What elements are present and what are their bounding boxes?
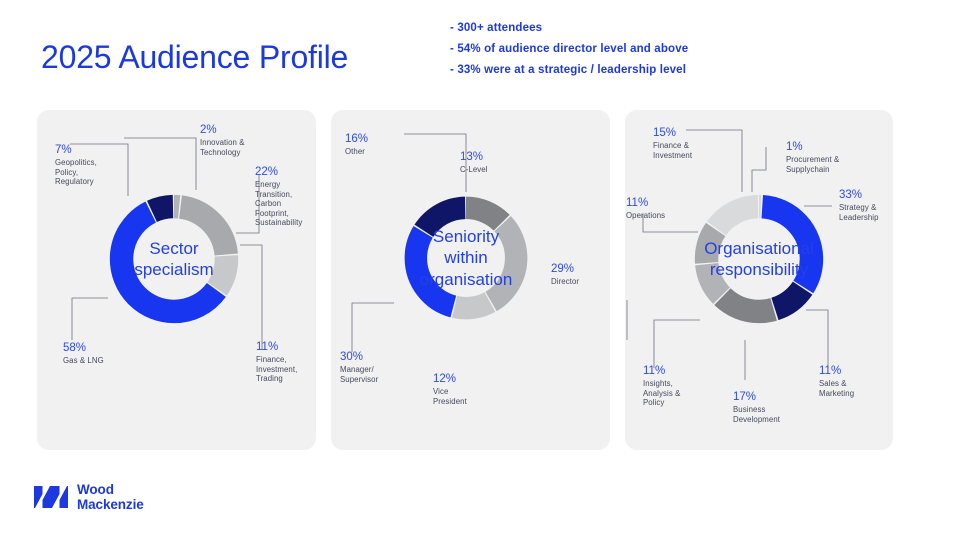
summary-bullet-2: - 54% of audience director level and abo… — [450, 39, 688, 60]
donut-3-svg — [690, 190, 828, 328]
label-innovation-name: Innovation &Technology — [200, 138, 245, 157]
label-sales-marketing: 11% Sales &Marketing — [819, 364, 854, 398]
label-strategy-name: Strategy &Leadership — [839, 203, 879, 222]
label-finance-investment-trading: 11% Finance,Investment,Trading — [256, 340, 297, 384]
label-c-level-name: C-Level — [460, 165, 488, 175]
label-vice-president-pct: 12% — [433, 372, 467, 386]
summary-bullets: - 300+ attendees - 54% of audience direc… — [450, 18, 688, 81]
brand-name-line-1: Wood — [77, 482, 144, 497]
label-gas-lng-pct: 58% — [63, 341, 104, 355]
label-procurement-name: Procurement &Supplychain — [786, 155, 839, 174]
label-procurement-supplychain: 1% Procurement &Supplychain — [786, 140, 839, 174]
wood-mackenzie-logo-icon — [34, 484, 68, 510]
brand-name-line-2: Mackenzie — [77, 497, 144, 512]
label-innovation-technology: 2% Innovation &Technology — [200, 123, 245, 157]
label-other-pct: 16% — [345, 132, 368, 146]
donut-chart-seniority: Senioritywithinorganisation — [400, 192, 532, 324]
label-geopolitics-policy-regulatory: 7% Geopolitics,Policy,Regulatory — [55, 143, 97, 187]
label-vice-president: 12% VicePresident — [433, 372, 467, 406]
label-sales-marketing-pct: 11% — [819, 364, 854, 378]
donut-2-svg — [400, 192, 532, 324]
page-title: 2025 Audience Profile — [41, 38, 348, 76]
label-director-name: Director — [551, 277, 579, 287]
label-business-development-name: BusinessDevelopment — [733, 405, 780, 424]
label-sales-marketing-name: Sales &Marketing — [819, 379, 854, 398]
summary-bullet-3: - 33% were at a strategic / leadership l… — [450, 60, 688, 81]
label-geopolitics-pct: 7% — [55, 143, 97, 157]
label-manager-name: Manager/Supervisor — [340, 365, 378, 384]
summary-bullet-1: - 300+ attendees — [450, 18, 688, 39]
label-vice-president-name: VicePresident — [433, 387, 467, 406]
donut-chart-sector-specialism: Sectorspecialism — [105, 190, 243, 328]
label-other: 16% Other — [345, 132, 368, 157]
brand-logo: Wood Mackenzie — [34, 482, 144, 512]
label-insights-analysis-policy: 11% Insights,Analysis &Policy — [643, 364, 680, 408]
label-operations-pct: 11% — [626, 196, 665, 210]
label-manager-pct: 30% — [340, 350, 378, 364]
donut-1-svg — [105, 190, 243, 328]
label-energy-transition: 22% EnergyTransition,CarbonFootprint,Sus… — [255, 165, 302, 228]
label-innovation-pct: 2% — [200, 123, 245, 137]
label-strategy-leadership: 33% Strategy &Leadership — [839, 188, 879, 222]
label-operations-name: Operations — [626, 211, 665, 221]
label-insights-name: Insights,Analysis &Policy — [643, 379, 680, 408]
label-finance-investment-name: Finance &Investment — [653, 141, 692, 160]
label-gas-lng-name: Gas & LNG — [63, 356, 104, 366]
label-finance-investment: 15% Finance &Investment — [653, 126, 692, 160]
label-energy-name: EnergyTransition,CarbonFootprint,Sustain… — [255, 180, 302, 228]
label-business-development: 17% BusinessDevelopment — [733, 390, 780, 424]
label-finance-trading-name: Finance,Investment,Trading — [256, 355, 297, 384]
slide-canvas: 2025 Audience Profile - 300+ attendees -… — [0, 0, 960, 540]
label-c-level: 13% C-Level — [460, 150, 488, 175]
label-operations: 11% Operations — [626, 196, 665, 221]
label-finance-trading-pct: 11% — [256, 340, 297, 354]
label-procurement-pct: 1% — [786, 140, 839, 154]
label-gas-lng: 58% Gas & LNG — [63, 341, 104, 366]
donut-chart-organisational-responsibility: Organisationalresponsibility — [690, 190, 828, 328]
label-manager-supervisor: 30% Manager/Supervisor — [340, 350, 378, 384]
label-director: 29% Director — [551, 262, 579, 287]
label-energy-pct: 22% — [255, 165, 302, 179]
brand-logo-text: Wood Mackenzie — [77, 482, 144, 512]
label-insights-pct: 11% — [643, 364, 680, 378]
label-finance-investment-pct: 15% — [653, 126, 692, 140]
label-strategy-pct: 33% — [839, 188, 879, 202]
label-geopolitics-name: Geopolitics,Policy,Regulatory — [55, 158, 97, 187]
label-director-pct: 29% — [551, 262, 579, 276]
label-c-level-pct: 13% — [460, 150, 488, 164]
label-other-name: Other — [345, 147, 368, 157]
label-business-development-pct: 17% — [733, 390, 780, 404]
